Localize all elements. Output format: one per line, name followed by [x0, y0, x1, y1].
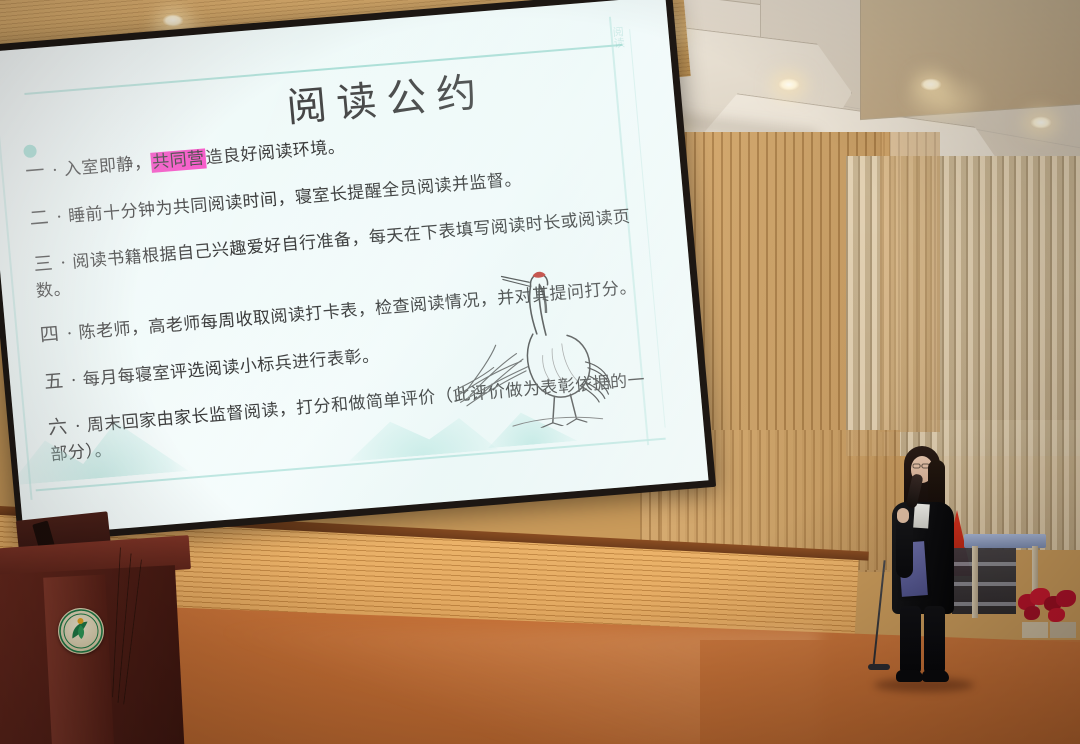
presentation-slide: 阅读 阅读公约 一 · 入室即静，共同营造良好阅读环境。 二 · 睡前十分钟为共… — [0, 0, 709, 537]
presenter-leg-right — [924, 606, 945, 674]
wooden-lectern — [0, 524, 200, 744]
reed-grass — [450, 343, 531, 407]
presenter-shoe-right — [922, 670, 949, 682]
clause-number: 二 — [29, 206, 52, 230]
clause-number: 三 — [33, 252, 56, 276]
presenter-leg-left — [900, 606, 921, 674]
clause-text: 每月每寝室评选阅读小标兵进行表彰。 — [82, 346, 380, 390]
presenter-shoe-left — [896, 670, 923, 682]
teal-dot-icon — [23, 144, 37, 158]
clause-text-after: 造良好阅读环境。 — [205, 137, 346, 168]
clause-number: 四 — [39, 323, 62, 347]
clause-separator: · — [74, 417, 82, 437]
projection-screen: 阅读 阅读公约 一 · 入室即静，共同营造良好阅读环境。 二 · 睡前十分钟为共… — [0, 0, 716, 544]
clause-highlight: 共同营 — [150, 148, 206, 172]
crane-red-crown — [532, 271, 545, 278]
presenter — [880, 446, 970, 686]
flower-pot — [1022, 622, 1048, 638]
clause-number: 六 — [47, 416, 70, 440]
red-flower-arrangement — [1016, 586, 1080, 638]
clause-separator: · — [66, 324, 74, 344]
auditorium-photo: 阅读 阅读公约 一 · 入室即静，共同营造良好阅读环境。 二 · 睡前十分钟为共… — [0, 0, 1080, 744]
clause-number: 一 — [24, 160, 47, 184]
clause-separator: · — [51, 161, 59, 181]
clause-text-before: 入室即静， — [63, 153, 152, 180]
glasses-icon — [913, 464, 920, 468]
flower-pot-2 — [1050, 622, 1076, 638]
presenter-hand — [897, 508, 909, 523]
lectern-column — [43, 575, 115, 744]
clause-separator: · — [60, 253, 68, 273]
clause-separator: · — [70, 371, 78, 391]
clause-separator: · — [56, 207, 64, 227]
clause-number: 五 — [43, 370, 66, 394]
table-leg-left — [972, 546, 978, 618]
presenter-shirt — [913, 504, 930, 529]
crane-illustration — [437, 231, 633, 435]
school-crest-icon — [57, 607, 105, 655]
